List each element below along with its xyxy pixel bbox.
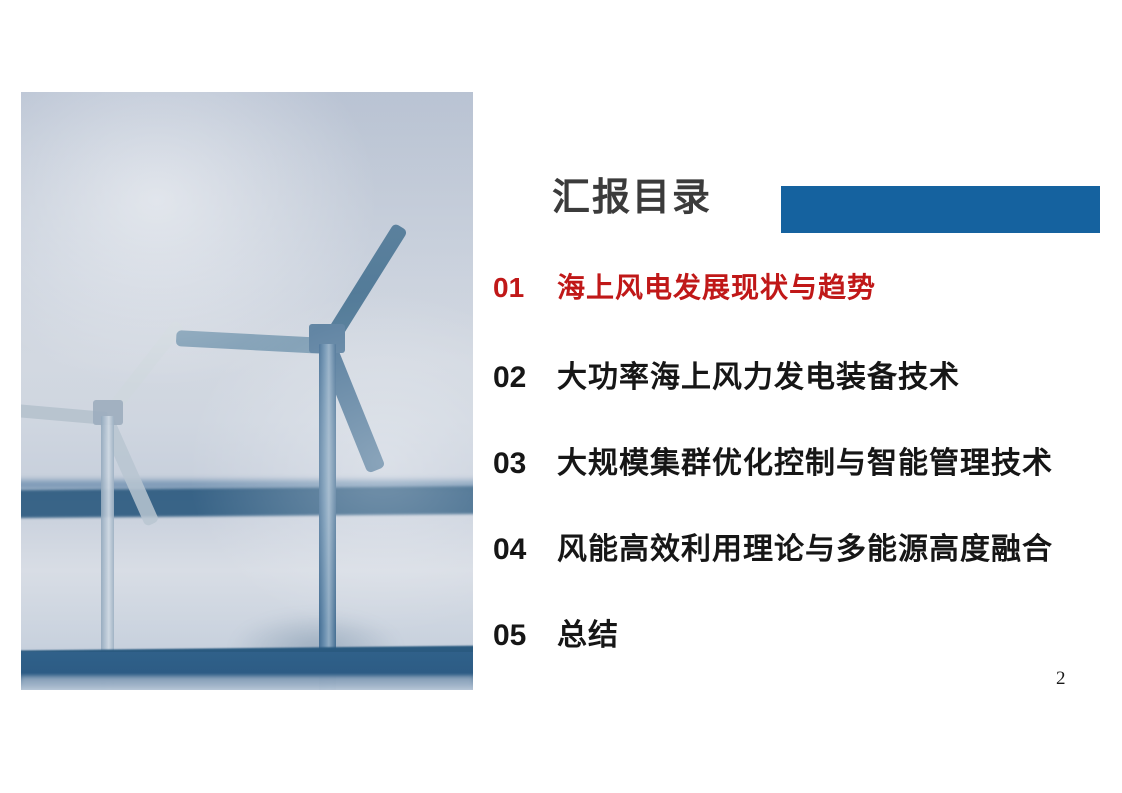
toc-item-03[interactable]: 03 大规模集群优化控制与智能管理技术 bbox=[493, 438, 1122, 482]
turbine-mast bbox=[319, 344, 336, 690]
title-accent-bar bbox=[781, 186, 1100, 233]
toc-label: 总结 bbox=[557, 610, 619, 654]
toc-item-02[interactable]: 02 大功率海上风力发电装备技术 bbox=[493, 352, 1122, 396]
toc-number: 04 bbox=[493, 533, 557, 567]
page-number: 2 bbox=[1056, 668, 1066, 690]
toc-label: 大功率海上风力发电装备技术 bbox=[557, 352, 960, 396]
background-rail bbox=[21, 486, 473, 518]
turbine-blade bbox=[176, 330, 327, 354]
toc-number: 01 bbox=[493, 272, 557, 304]
table-shadow bbox=[21, 677, 473, 690]
toc-label: 海上风电发展现状与趋势 bbox=[557, 266, 876, 306]
toc-label: 大规模集群优化控制与智能管理技术 bbox=[557, 438, 1053, 482]
toc-number: 03 bbox=[493, 447, 557, 481]
table-of-contents: 01 海上风电发展现状与趋势 02 大功率海上风力发电装备技术 03 大规模集群… bbox=[493, 266, 1122, 654]
toc-item-05[interactable]: 05 总结 bbox=[493, 610, 1122, 654]
slide-root: 汇报目录 01 海上风电发展现状与趋势 02 大功率海上风力发电装备技术 03 … bbox=[0, 0, 1122, 793]
page-title: 汇报目录 bbox=[552, 172, 712, 224]
header-row: 汇报目录 bbox=[493, 172, 1122, 238]
toc-item-04[interactable]: 04 风能高效利用理论与多能源高度融合 bbox=[493, 524, 1122, 568]
toc-item-01[interactable]: 01 海上风电发展现状与趋势 bbox=[493, 266, 1122, 310]
toc-number: 02 bbox=[493, 361, 557, 395]
wind-turbine-photo bbox=[21, 92, 473, 690]
photo-haze-overlay bbox=[21, 92, 473, 690]
toc-number: 05 bbox=[493, 619, 557, 653]
toc-label: 风能高效利用理论与多能源高度融合 bbox=[557, 524, 1053, 568]
slide-content: 汇报目录 01 海上风电发展现状与趋势 02 大功率海上风力发电装备技术 03 … bbox=[493, 0, 1122, 793]
